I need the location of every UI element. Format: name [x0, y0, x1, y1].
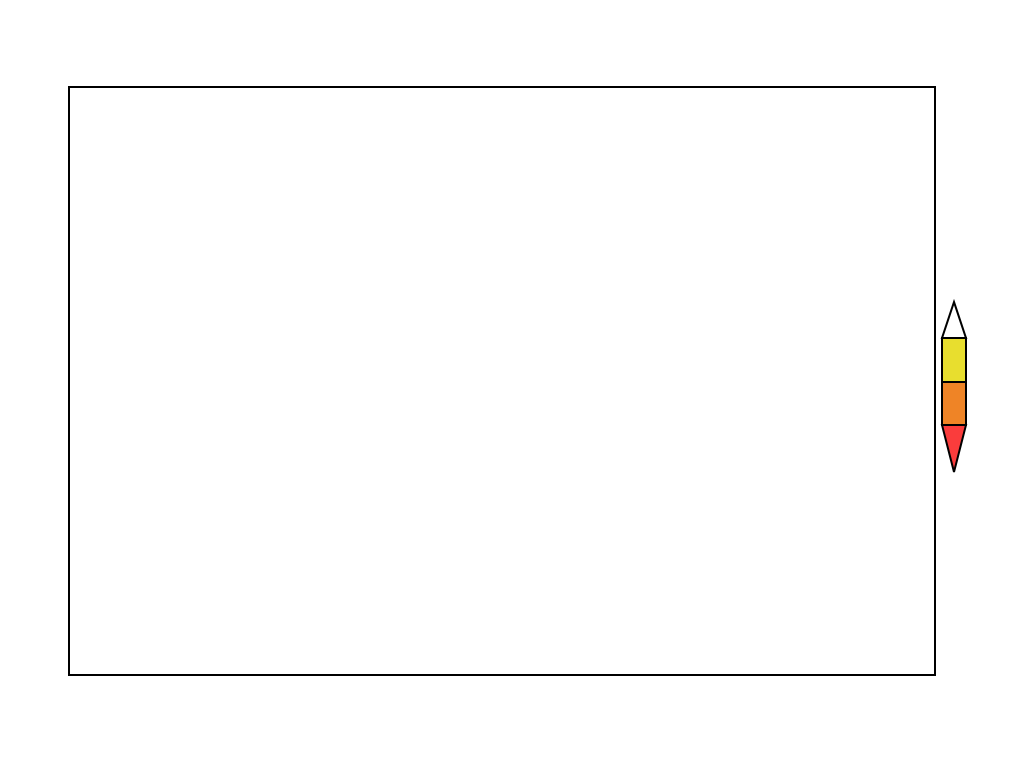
colorbar-segment-0.5-1: [942, 338, 966, 382]
y-axis: [0, 86, 62, 672]
colorbar-legend: [938, 292, 1024, 482]
chart-canvas-root: [0, 0, 1024, 768]
colorbar-swatches: [938, 292, 1024, 482]
plot-area: [68, 86, 936, 676]
colorbar-segment-0.25-0.5: [942, 382, 966, 425]
x-axis: [0, 676, 1024, 746]
colorbar-segment-above-1: [942, 302, 966, 338]
gridlines-layer: [70, 88, 934, 674]
colorbar-segment-below-0.25: [942, 425, 966, 472]
